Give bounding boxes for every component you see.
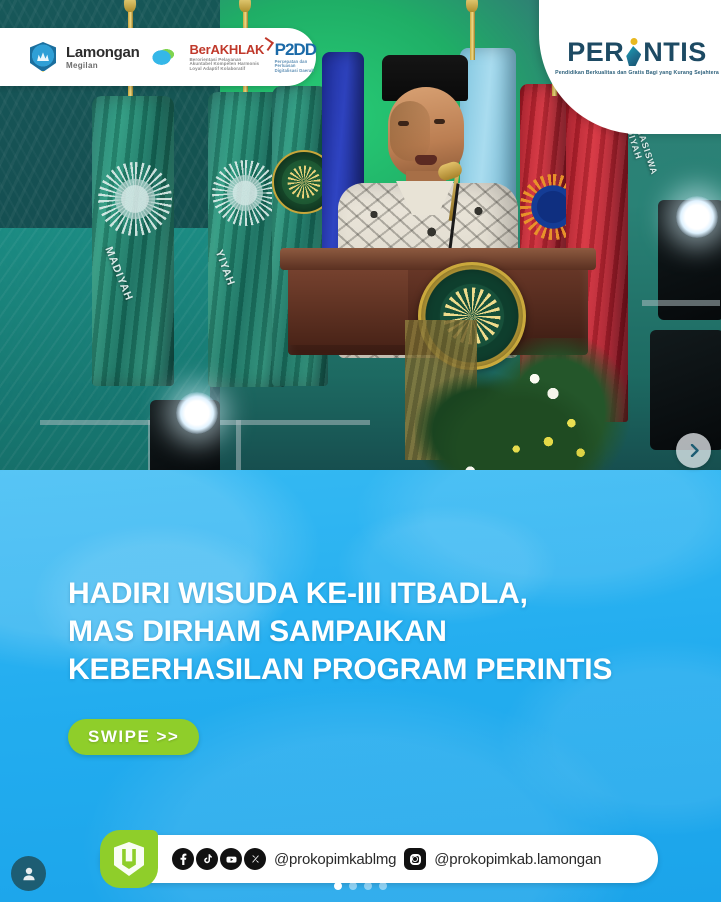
stage-light-lens (676, 196, 718, 238)
stage-light-lens (176, 392, 218, 434)
flag-emblem-sun-1 (98, 162, 172, 236)
facebook-icon[interactable] (172, 848, 194, 870)
headline-line-1: HADIRI WISUDA KE-III ITBADLA, (68, 575, 668, 613)
flag-muhammadiyah-1 (92, 96, 174, 386)
p2dd-title: P2DD (275, 41, 316, 58)
prokopim-brand-badge (100, 830, 158, 888)
lamongan-crest-icon (30, 42, 56, 72)
social-media-bar: @prokopimkablmg @prokopimkab.lamongan (100, 835, 658, 883)
instagram-carousel-post: MADIYAH YIYAH IKATAN MAHASISWA MUHAMMADI… (0, 0, 721, 902)
berakhlak-subtitle: Berorientasi Pelayanan Akuntabel Kompete… (189, 58, 264, 72)
berakhlak-title: BerAKHLAK (189, 43, 264, 56)
carousel-dot-4[interactable] (379, 882, 387, 890)
eye-right (434, 119, 445, 124)
lamongan-tagline: Megilan (66, 62, 139, 70)
x-twitter-icon[interactable] (244, 848, 266, 870)
social-icon-group (172, 848, 266, 870)
tiktok-icon[interactable] (196, 848, 218, 870)
instagram-icon[interactable] (404, 848, 426, 870)
lamongan-wordmark: Lamongan Megilan (66, 45, 139, 70)
headline: HADIRI WISUDA KE-III ITBADLA, MAS DIRHAM… (68, 575, 668, 689)
mouth (415, 155, 437, 165)
chevron-right-icon (688, 444, 701, 457)
youtube-icon[interactable] (220, 848, 242, 870)
stage-light-body (650, 330, 721, 450)
truss-bar (642, 300, 720, 306)
flagpole-finial (466, 0, 478, 12)
face-shadow (390, 101, 430, 161)
carousel-dots (0, 882, 721, 890)
podium-left-face (288, 260, 408, 345)
berakhlak-logo: BerAKHLAK Berorientasi Pelayanan Akuntab… (189, 43, 264, 72)
profile-avatar-button[interactable] (11, 856, 46, 891)
carousel-dot-3[interactable] (364, 882, 372, 890)
handle-instagram[interactable]: @prokopimkab.lamongan (434, 851, 601, 868)
perintis-word-before: PER (567, 39, 624, 66)
perintis-body-shape (626, 46, 641, 66)
headline-line-3: KEBERHASILAN PROGRAM PERINTIS (68, 651, 668, 689)
person-icon (20, 865, 38, 883)
perintis-word-after: NTIS (643, 39, 707, 66)
flagpole-finial (124, 0, 136, 12)
carousel-dot-1[interactable] (334, 882, 342, 890)
podium-top-surface (280, 248, 596, 270)
handle-primary[interactable]: @prokopimkablmg (274, 851, 396, 868)
flagpole-finial (239, 0, 251, 12)
p2dd-logo: P2DD Percepatan dan Perluasan Digitalisa… (275, 41, 316, 73)
lamongan-name: Lamongan (66, 45, 139, 60)
p2dd-subtitle: Percepatan dan Perluasan Digitalisasi Da… (275, 60, 316, 73)
swipe-button[interactable]: SWIPE >> (68, 719, 199, 755)
prokopim-shield-icon (114, 842, 144, 876)
flag-emblem-sun-2 (212, 160, 278, 226)
perintis-head-dot (630, 38, 637, 45)
perintis-tagline: Pendidikan Berkualitas dan Gratis Bagi y… (555, 70, 719, 76)
government-logo-bar: Lamongan Megilan BerAKHLAK Berorientasi … (0, 28, 316, 86)
dolphin-icon (149, 44, 179, 70)
headline-line-2: MAS DIRHAM SAMPAIKAN (68, 613, 668, 651)
perintis-wordmark: PER NTIS (567, 39, 707, 66)
perintis-person-icon (625, 39, 642, 66)
next-slide-button[interactable] (676, 433, 711, 468)
eye-left (398, 121, 409, 126)
carousel-dot-2[interactable] (349, 882, 357, 890)
